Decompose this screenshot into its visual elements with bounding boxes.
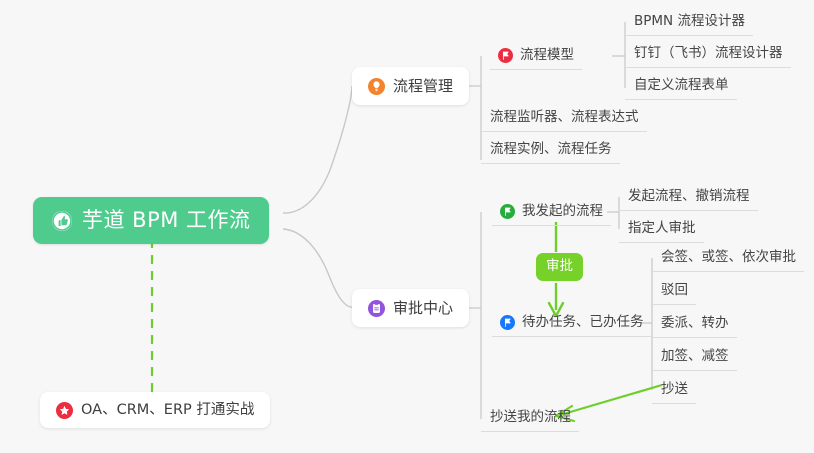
leaf-label: 抄送我的流程	[490, 411, 571, 425]
flag-icon	[500, 315, 515, 330]
node-label-todo-done-tasks: 待办任务、已办任务	[522, 316, 644, 330]
leaf-process-instance-task[interactable]: 流程实例、流程任务	[481, 136, 620, 164]
leaf-label: 驳回	[661, 284, 688, 298]
leaf-label: 抄送	[661, 383, 688, 397]
node-my-started-process[interactable]: 我发起的流程	[492, 198, 611, 226]
leaf-label: 流程监听器、流程表达式	[490, 111, 639, 125]
star-icon	[56, 402, 73, 419]
root-label: 芋道 BPM 工作流	[82, 210, 251, 231]
leaf-label: 会签、或签、依次审批	[661, 251, 796, 265]
leaf-label: 加签、减签	[661, 350, 729, 364]
leaf-label: 指定人审批	[628, 222, 696, 236]
branch-label-process-management: 流程管理	[393, 79, 453, 94]
node-label-my-started-process: 我发起的流程	[522, 205, 603, 219]
node-process-model[interactable]: 流程模型	[490, 42, 582, 70]
leaf-dingtalk-feishu-designer[interactable]: 钉钉（飞书）流程设计器	[625, 40, 791, 68]
lightbulb-icon	[368, 78, 385, 95]
link-root-to-process-management	[283, 86, 352, 213]
branch-node-process-management[interactable]: 流程管理	[352, 67, 469, 105]
approval-tag: 审批	[536, 253, 583, 281]
branch-label-approval-center: 审批中心	[393, 301, 453, 316]
leaf-countersign-orsign-sequential[interactable]: 会签、或签、依次审批	[652, 244, 804, 272]
approval-tag-label: 审批	[546, 260, 573, 274]
clipboard-icon	[368, 300, 385, 317]
leaf-label: 委派、转办	[661, 317, 729, 331]
node-todo-done-tasks[interactable]: 待办任务、已办任务	[492, 309, 652, 337]
node-label-process-model: 流程模型	[520, 49, 574, 63]
leaf-start-cancel-process[interactable]: 发起流程、撤销流程	[619, 183, 758, 211]
leaf-label: 自定义流程表单	[634, 79, 729, 93]
root-node[interactable]: 芋道 BPM 工作流	[33, 197, 269, 244]
branch-node-approval-center[interactable]: 审批中心	[352, 289, 469, 327]
flag-icon	[500, 204, 515, 219]
leaf-label: 钉钉（飞书）流程设计器	[634, 47, 783, 61]
leaf-assigned-approval[interactable]: 指定人审批	[619, 215, 704, 243]
leaf-cc-to-me-process[interactable]: 抄送我的流程	[481, 404, 579, 432]
leaf-carbon-copy[interactable]: 抄送	[652, 376, 696, 404]
leaf-process-listener-expression[interactable]: 流程监听器、流程表达式	[481, 104, 647, 132]
leaf-custom-process-form[interactable]: 自定义流程表单	[625, 72, 737, 100]
leaf-add-remove-sign[interactable]: 加签、减签	[652, 343, 737, 371]
bottom-card-oa-crm-erp[interactable]: OA、CRM、ERP 打通实战	[40, 392, 270, 428]
leaf-bpmn-designer[interactable]: BPMN 流程设计器	[625, 8, 753, 36]
thumbs-up-icon	[51, 210, 73, 232]
leaf-label: 发起流程、撤销流程	[628, 190, 750, 204]
mindmap-canvas: 芋道 BPM 工作流 流程管理 流程模型 BPMN 流程设计器 钉钉（飞书）流程…	[0, 0, 814, 453]
leaf-reject[interactable]: 驳回	[652, 277, 696, 305]
leaf-label: BPMN 流程设计器	[634, 15, 745, 29]
bottom-card-label: OA、CRM、ERP 打通实战	[81, 403, 254, 418]
leaf-delegate-transfer[interactable]: 委派、转办	[652, 310, 737, 338]
link-root-to-approval-center	[283, 229, 352, 308]
flag-icon	[498, 48, 513, 63]
leaf-label: 流程实例、流程任务	[490, 143, 612, 157]
